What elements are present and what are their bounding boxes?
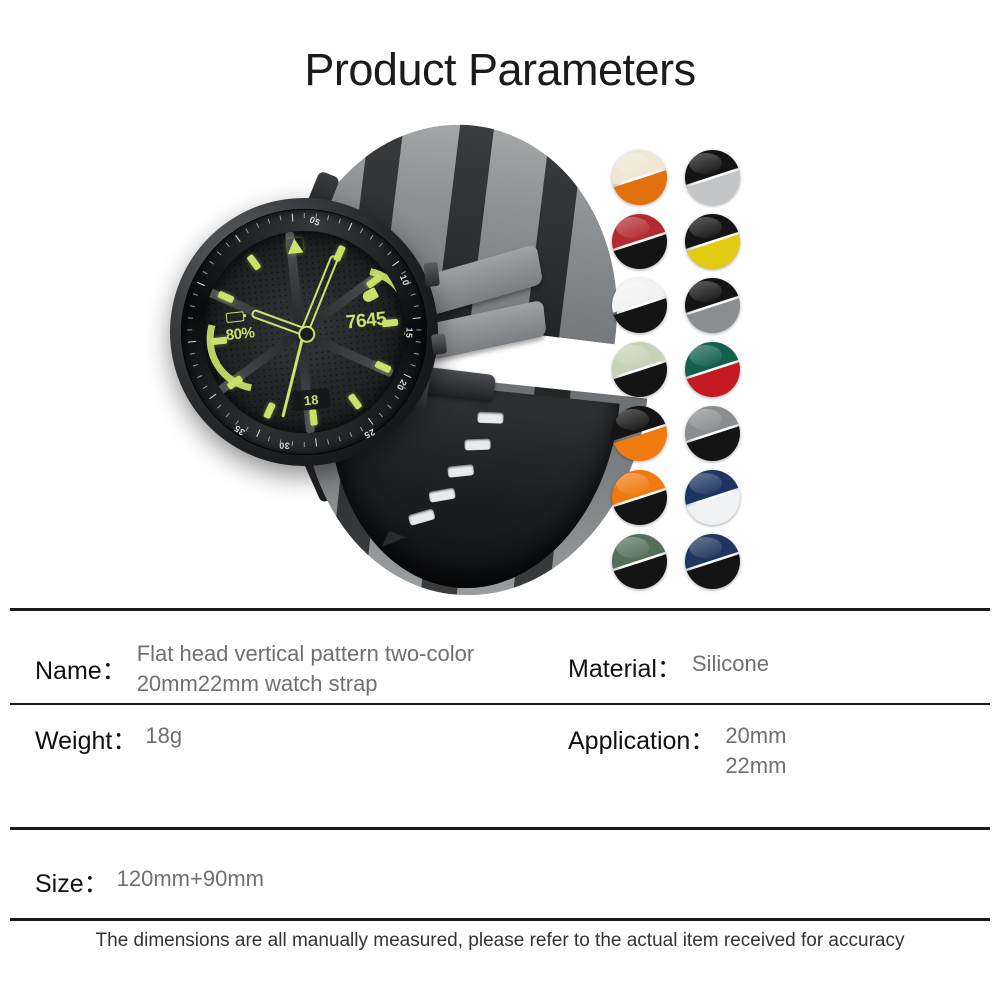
bezel-tick xyxy=(193,293,198,295)
size-value: 120mm+90mm xyxy=(117,864,264,900)
weight-value: 18g xyxy=(145,721,182,757)
bezel-tick xyxy=(304,442,305,447)
bezel-tick xyxy=(245,228,248,233)
bezel-tick xyxy=(414,353,419,355)
dial-index xyxy=(309,409,318,426)
bezel-tick xyxy=(203,386,208,389)
bezel-tick xyxy=(209,261,214,265)
bezel-tick xyxy=(256,223,259,228)
step-count: 7645 xyxy=(345,308,387,334)
application-value: 20mm 22mm xyxy=(725,721,786,781)
color-swatch-cream-orange[interactable] xyxy=(612,150,667,205)
bezel-tick xyxy=(327,439,329,444)
color-swatch-black-yellow[interactable] xyxy=(685,214,740,269)
bezel-tick xyxy=(217,251,221,255)
bezel-tick xyxy=(404,374,412,378)
cell-application: Application： 20mm 22mm xyxy=(568,721,786,781)
bezel-tick xyxy=(245,427,248,432)
name-value: Flat head vertical pattern two-color 20m… xyxy=(137,639,475,699)
page-title: Product Parameters xyxy=(0,44,1000,96)
swatch-row xyxy=(612,150,740,205)
strap-hole xyxy=(428,487,456,502)
swatch-row xyxy=(612,278,740,333)
bezel-tick xyxy=(414,305,419,307)
color-swatch-white-black[interactable] xyxy=(612,278,667,333)
bezel-tick xyxy=(193,364,198,366)
bezel-tick xyxy=(226,243,230,247)
battery-icon xyxy=(226,311,245,323)
bezel-tick xyxy=(197,375,202,378)
table-row-size: Size： 120mm+90mm xyxy=(10,830,990,918)
bezel-tick xyxy=(327,215,329,220)
color-swatch-red-black[interactable] xyxy=(612,214,667,269)
material-label: Material： xyxy=(568,649,682,685)
bezel-tick xyxy=(235,235,241,242)
bezel-tick xyxy=(416,329,421,330)
color-swatch-black-orange[interactable] xyxy=(612,406,667,461)
bezel-tick xyxy=(226,413,230,417)
measurement-disclaimer: The dimensions are all manually measured… xyxy=(0,930,1000,952)
bezel-number: 25 xyxy=(362,427,376,441)
bezel-tick xyxy=(349,432,352,437)
color-swatch-navy-white[interactable] xyxy=(685,470,740,525)
bezel-tick xyxy=(360,228,363,233)
color-swatch-orange-black[interactable] xyxy=(612,470,667,525)
watch-crown-upper xyxy=(423,262,439,287)
swatch-row xyxy=(612,214,740,269)
bezel-tick xyxy=(411,293,416,295)
cell-size: Size： 120mm+90mm xyxy=(35,864,264,900)
bezel-tick xyxy=(370,235,374,240)
bezel-tick xyxy=(268,436,270,441)
bezel-tick xyxy=(203,271,208,274)
cell-material: Material： Silicone xyxy=(568,649,769,685)
color-swatch-navy-black[interactable] xyxy=(685,534,740,589)
strap-hole xyxy=(408,508,436,526)
application-label: Application： xyxy=(568,721,715,781)
bezel-tick xyxy=(256,429,260,437)
bezel-tick xyxy=(413,317,421,319)
color-swatch-grid xyxy=(612,150,740,598)
bezel-tick xyxy=(416,341,421,343)
product-hero-image: 05 10 15 20 25 30 35 xyxy=(0,120,1000,590)
strap-hole xyxy=(477,412,503,424)
bezel-tick xyxy=(411,364,416,366)
date-complication: 18 xyxy=(291,388,331,412)
bezel-tick xyxy=(188,317,193,319)
color-swatch-mint-black[interactable] xyxy=(612,342,667,397)
bezel-tick xyxy=(387,405,391,409)
color-swatch-olive-black[interactable] xyxy=(612,534,667,589)
color-swatch-black-silver[interactable] xyxy=(685,150,740,205)
bezel-tick xyxy=(338,436,340,441)
swatch-row xyxy=(612,470,740,525)
color-swatch-green-red[interactable] xyxy=(685,342,740,397)
bezel-tick xyxy=(268,219,270,224)
bezel-tick xyxy=(338,219,340,224)
bezel-tick xyxy=(360,427,363,432)
strap-notch xyxy=(377,526,406,547)
swatch-row xyxy=(612,406,740,461)
color-swatch-black-grey[interactable] xyxy=(685,278,740,333)
strap-hole xyxy=(447,464,474,478)
bezel-tick xyxy=(217,405,221,409)
table-rule xyxy=(10,918,990,921)
date-number: 18 xyxy=(303,391,319,407)
table-row-name: Name： Flat head vertical pattern two-col… xyxy=(10,611,990,703)
parameters-table: Name： Flat head vertical pattern two-col… xyxy=(10,608,990,921)
cell-name: Name： Flat head vertical pattern two-col… xyxy=(35,639,474,699)
material-value: Silicone xyxy=(692,649,769,685)
bezel-tick xyxy=(348,223,352,231)
bezel-tick xyxy=(209,394,216,400)
bezel-tick xyxy=(395,395,400,399)
bezel-tick xyxy=(279,215,281,220)
table-row-weight: Weight： 18g Application： 20mm 22mm xyxy=(10,705,990,827)
swatch-row xyxy=(612,534,740,589)
watch-crown-lower xyxy=(431,333,447,354)
bezel-tick xyxy=(315,438,317,446)
cell-weight: Weight： 18g xyxy=(35,721,182,757)
bezel-tick xyxy=(190,353,195,355)
bezel-tick xyxy=(304,213,305,218)
bezel-tick xyxy=(197,282,205,286)
bezel-tick xyxy=(368,418,374,425)
battery-percent: 80% xyxy=(225,324,255,344)
color-swatch-grey-black[interactable] xyxy=(685,406,740,461)
bezel-tick xyxy=(379,413,383,417)
name-label: Name： xyxy=(35,639,127,699)
bezel-tick xyxy=(187,329,192,330)
dial-index-12 xyxy=(286,238,303,255)
weight-label: Weight： xyxy=(35,721,137,757)
bezel-tick xyxy=(379,243,383,247)
size-label: Size： xyxy=(35,864,109,900)
bezel-tick xyxy=(188,341,196,343)
bezel-tick xyxy=(387,251,391,255)
bezel-tick xyxy=(190,305,195,307)
bezel-tick xyxy=(292,441,294,446)
bezel-tick xyxy=(392,261,399,267)
swatch-row xyxy=(612,342,740,397)
strap-hole xyxy=(464,439,490,451)
watch-assembly: 05 10 15 20 25 30 35 xyxy=(180,130,610,580)
bezel-tick xyxy=(292,214,294,222)
